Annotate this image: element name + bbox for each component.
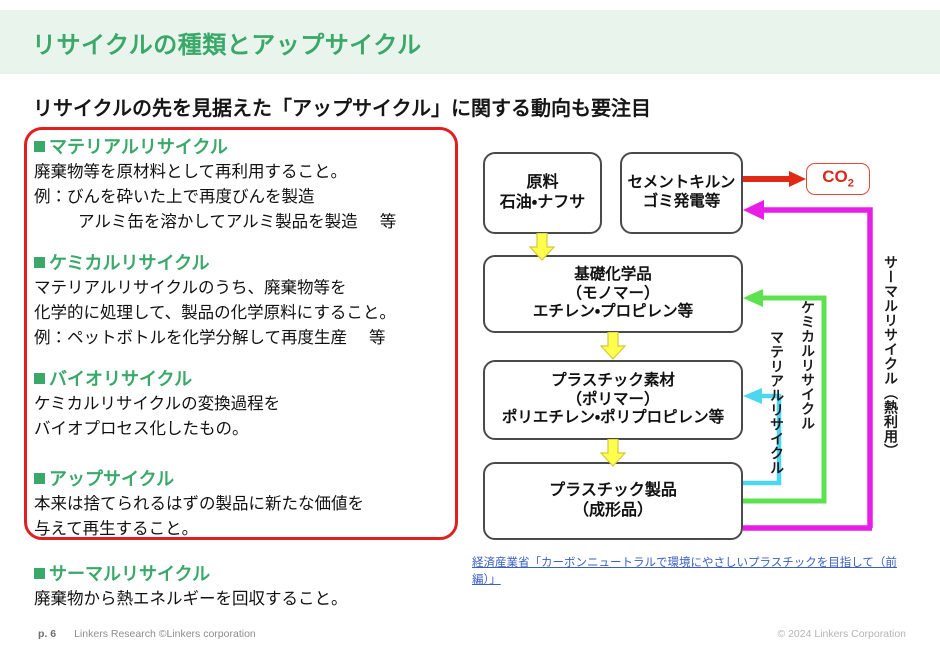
section-upcycle: アップサイクル 本来は捨てられるはずの製品に新たな価値を 与えて再生すること。	[34, 468, 364, 541]
section-thermal-recycle: サーマルリサイクル 廃棄物から熱エネルギーを回収すること。	[34, 563, 348, 611]
section-heading: ケミカルリサイクル	[34, 252, 396, 275]
bullet-square-icon	[34, 568, 45, 579]
node-line: （モノマー）	[566, 285, 659, 304]
section-heading: バイオリサイクル	[34, 368, 280, 391]
node-plastic-product: プラスチック製品 （成形品）	[483, 462, 743, 540]
section-line: 与えて再生すること。	[34, 518, 364, 541]
page-title: リサイクルの種類とアップサイクル	[32, 25, 732, 60]
node-raw-material: 原料 石油・ナフサ	[483, 152, 602, 234]
node-line: CO2	[822, 167, 854, 191]
subtitle: リサイクルの先を見据えた「アップサイクル」に関する動向も要注目	[33, 92, 651, 121]
node-line: プラスチック素材	[551, 372, 675, 391]
node-line: プラスチック製品	[549, 481, 677, 501]
node-line: （ポリマー）	[566, 391, 659, 410]
section-line: 化学的に処理して、製品の化学原料にすること。	[34, 302, 396, 325]
section-line: 廃棄物から熱エネルギーを回収すること。	[34, 588, 348, 611]
section-material-recycle: マテリアルリサイクル 廃棄物等を原材料として再利用すること。 例：びんを砕いた上…	[34, 136, 396, 235]
loop-label-chemical-recycle: ケミカルリサイクル	[801, 300, 815, 431]
node-line: 基礎化学品	[574, 266, 652, 285]
section-line: マテリアルリサイクルのうち、廃棄物等を	[34, 277, 396, 300]
page-number: p. 6	[38, 628, 56, 640]
section-line-indented: アルミ缶を溶かしてアルミ製品を製造等	[34, 211, 396, 234]
section-bio-recycle: バイオリサイクル ケミカルリサイクルの変換過程を バイオプロセス化したもの。	[34, 368, 280, 441]
section-line: 例：ペットボトルを化学分解して再度生産等	[34, 327, 396, 350]
node-co2: CO2	[806, 163, 870, 195]
footer-left: p. 6Linkers Research ©Linkers corporatio…	[38, 628, 256, 640]
section-line: 廃棄物等を原材料として再利用すること。	[34, 161, 396, 184]
section-heading: アップサイクル	[34, 468, 364, 491]
footer-credit: Linkers Research ©Linkers corporation	[74, 628, 256, 640]
bullet-square-icon	[34, 141, 45, 152]
loop-label-material-recycle: マテリアルリサイクル	[770, 330, 784, 475]
bullet-square-icon	[34, 473, 45, 484]
slide-canvas: リサイクルの種類とアップサイクル リサイクルの先を見据えた「アップサイクル」に関…	[0, 0, 940, 650]
node-cement-kiln: セメントキルン ゴミ発電等	[620, 152, 743, 234]
bullet-square-icon	[34, 257, 45, 268]
arrow-down-yellow-icon	[528, 233, 556, 261]
footer-copyright: © 2024 Linkers Corporation	[777, 628, 906, 640]
node-line: （成形品）	[573, 501, 653, 521]
source-citation-link[interactable]: 経済産業省「カーボンニュートラルで環境にやさしいプラスチックを目指して（前編）」	[472, 555, 912, 590]
section-line: 例：びんを砕いた上で再度びんを製造	[34, 186, 396, 209]
node-plastic-material: プラスチック素材 （ポリマー） ポリエチレン・ポリプロピレン等	[483, 360, 743, 440]
section-line: バイオプロセス化したもの。	[34, 418, 280, 441]
section-line: ケミカルリサイクルの変換過程を	[34, 393, 280, 416]
arrow-down-yellow-icon	[599, 332, 627, 360]
node-line: ポリエチレン・ポリプロピレン等	[502, 409, 724, 428]
section-chemical-recycle: ケミカルリサイクル マテリアルリサイクルのうち、廃棄物等を 化学的に処理して、製…	[34, 252, 396, 351]
bullet-square-icon	[34, 373, 45, 384]
co2-subscript: 2	[848, 177, 854, 189]
arrow-down-yellow-icon	[599, 439, 627, 467]
node-basic-chemicals: 基礎化学品 （モノマー） エチレン・プロピレン等	[483, 255, 743, 333]
node-line: エチレン・プロピレン等	[533, 303, 693, 322]
node-line: 原料	[526, 173, 558, 193]
node-line: ゴミ発電等	[643, 193, 721, 212]
section-line: 本来は捨てられるはずの製品に新たな価値を	[34, 493, 364, 516]
node-line: セメントキルン	[628, 174, 736, 193]
loop-label-thermal-recycle: サーマルリサイクル（熱利用）	[884, 255, 898, 458]
section-heading: マテリアルリサイクル	[34, 136, 396, 159]
node-line: 石油・ナフサ	[500, 193, 585, 213]
arrow-kiln-to-co2	[743, 171, 806, 187]
section-heading: サーマルリサイクル	[34, 563, 348, 586]
